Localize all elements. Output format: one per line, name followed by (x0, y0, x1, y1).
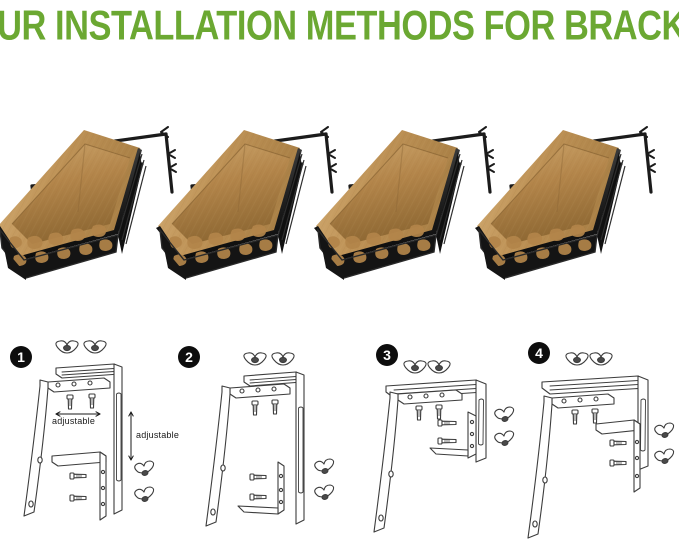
method-panel-2: 2 (168, 330, 354, 555)
method-badge-2: 2 (178, 346, 200, 368)
support-leg-curved (374, 392, 398, 532)
wing-nut-icon (566, 353, 588, 365)
support-bracket-L (238, 462, 284, 514)
wing-nut-icon (315, 459, 334, 474)
wing-nut-icon (495, 431, 514, 446)
main-bracket-top-plate (56, 364, 120, 378)
bolt-icon (272, 400, 278, 414)
wing-nut-icon (135, 487, 154, 502)
adjustable-dimension-vertical (129, 412, 133, 460)
bolt-icon (436, 405, 442, 419)
wing-nut-icon (655, 423, 674, 438)
method-badge-4: 4 (528, 342, 550, 364)
bolt-icon (67, 395, 73, 409)
planter-photo-row (0, 108, 679, 313)
main-bracket-top-plate (244, 372, 302, 386)
bolt-icon (70, 473, 86, 479)
method-panel-3: 3 (368, 330, 528, 555)
planter-photo-4 (468, 108, 674, 313)
adjustable-label-horizontal: adjustable (52, 416, 95, 426)
bolt-icon (252, 401, 258, 415)
wing-nut-icon (56, 341, 78, 353)
adjustable-slider-plate (230, 384, 290, 398)
wing-nut-icon (495, 407, 514, 422)
support-bracket-L (596, 420, 640, 492)
adjustable-slider-plate (552, 394, 614, 408)
bolt-icon (610, 440, 626, 446)
bolt-icon (70, 495, 86, 501)
page-title: FOUR INSTALLATION METHODS FOR BRACKET (0, 5, 679, 48)
planter-illustration (468, 108, 679, 313)
support-bracket-L (52, 452, 106, 520)
method-badge-3: 3 (376, 344, 398, 366)
support-leg-curved (24, 380, 48, 516)
main-bracket-post (476, 380, 486, 462)
wing-nut-icon (428, 361, 450, 373)
wing-nut-icon (404, 361, 426, 373)
support-bracket-L (430, 412, 476, 458)
adjustable-slider-plate (48, 378, 110, 392)
bolt-icon (438, 438, 456, 444)
bolt-icon (416, 406, 422, 420)
bolt-icon (250, 474, 266, 480)
wing-nut-icon (655, 449, 674, 464)
support-leg-curved (528, 396, 552, 538)
main-bracket-post (296, 372, 304, 524)
method-panel-1: 1 (0, 330, 186, 555)
wing-nut-icon (272, 353, 294, 365)
bolt-icon (610, 460, 626, 466)
wing-nut-icon (244, 353, 266, 365)
wing-nut-icon (135, 461, 154, 476)
wing-nut-icon (315, 485, 334, 500)
bolt-icon (250, 494, 266, 500)
bolt-icon (572, 410, 578, 424)
title-bar: FOUR INSTALLATION METHODS FOR BRACKET (0, 0, 679, 52)
method-panel-4: 4 (516, 330, 679, 555)
wing-nut-icon (84, 341, 106, 353)
main-bracket-top-plate (542, 376, 646, 394)
bolt-icon (438, 420, 456, 426)
wing-nut-icon (590, 353, 612, 365)
method-badge-1: 1 (10, 346, 32, 368)
bolt-icon (592, 409, 598, 423)
support-leg-curved (206, 386, 230, 526)
main-bracket-post (114, 364, 122, 514)
bolt-icon (89, 394, 95, 408)
installation-diagram-row: 1 (0, 330, 679, 555)
